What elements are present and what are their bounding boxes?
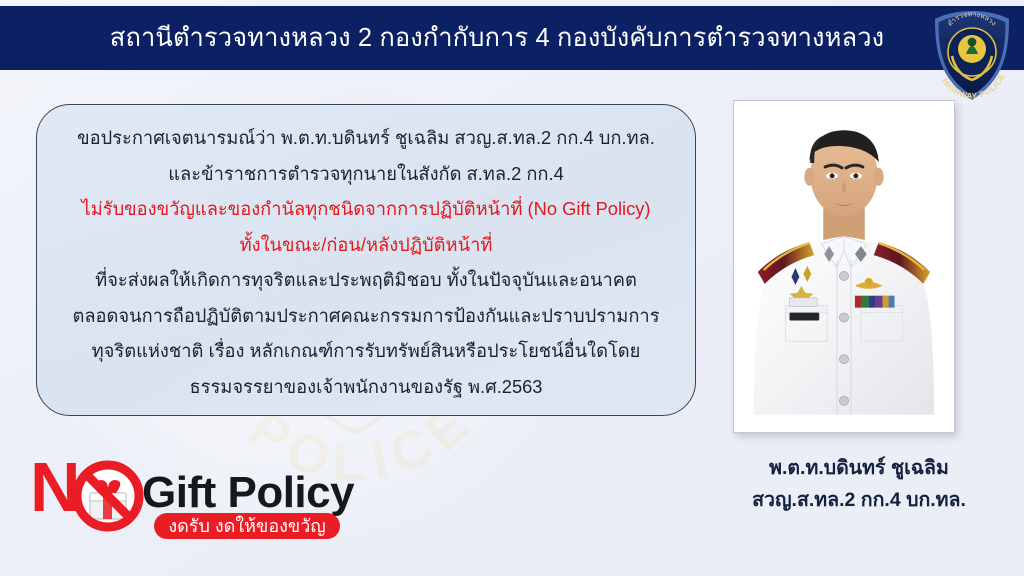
declaration-line-highlight: ทั้งในขณะ/ก่อน/หลังปฏิบัติหน้าที่ xyxy=(63,227,669,263)
no-gift-prohibition-icon xyxy=(75,463,141,529)
logo-gift-policy-text: Gift Policy xyxy=(142,468,355,517)
no-gift-policy-logo: NO Gift Policy งดรับ งดให้ของขวัญ xyxy=(30,449,390,544)
page-title: สถานีตำรวจทางหลวง 2 กองกำกับการ 4 กองบัง… xyxy=(110,18,914,58)
highway-police-badge: ตำรวจทางหลวง HIGHWAY POLICE xyxy=(930,8,1014,104)
header-bar: สถานีตำรวจทางหลวง 2 กองกำกับการ 4 กองบัง… xyxy=(0,6,1024,70)
declaration-line: และข้าราชการตำรวจทุกนายในสังกัด ส.ทล.2 ก… xyxy=(63,156,669,192)
officer-name: พ.ต.ท.บดินทร์ ชูเฉลิม xyxy=(700,452,1018,484)
declaration-line-highlight: ไม่รับของขวัญและของกำนัลทุกชนิดจากการปฏิ… xyxy=(63,191,669,227)
declaration-line: ทุจริตแห่งชาติ เรื่อง หลักเกณฑ์การรับทรั… xyxy=(63,333,669,369)
officer-portrait xyxy=(733,100,955,433)
logo-thai-ribbon-text: งดรับ งดให้ของขวัญ xyxy=(168,515,325,536)
declaration-card: ขอประกาศเจตนารมณ์ว่า พ.ต.ท.บดินทร์ ชูเฉล… xyxy=(36,104,696,416)
poster-canvas: POLICE สถานีตำรวจทางหลวง 2 กองกำกับการ 4… xyxy=(0,0,1024,576)
declaration-line: ตลอดจนการถือปฏิบัติตามประกาศคณะกรรมการป้… xyxy=(63,298,669,334)
officer-caption: พ.ต.ท.บดินทร์ ชูเฉลิม สวญ.ส.ทล.2 กก.4 บก… xyxy=(700,452,1018,516)
declaration-line: ที่จะส่งผลให้เกิดการทุจริตและประพฤติมิชอ… xyxy=(63,262,669,298)
declaration-line: ขอประกาศเจตนารมณ์ว่า พ.ต.ท.บดินทร์ ชูเฉล… xyxy=(63,120,669,156)
declaration-line: ธรรมจรรยาของเจ้าพนักงานของรัฐ พ.ศ.2563 xyxy=(63,369,669,405)
officer-rank: สวญ.ส.ทล.2 กก.4 บก.ทล. xyxy=(700,484,1018,516)
